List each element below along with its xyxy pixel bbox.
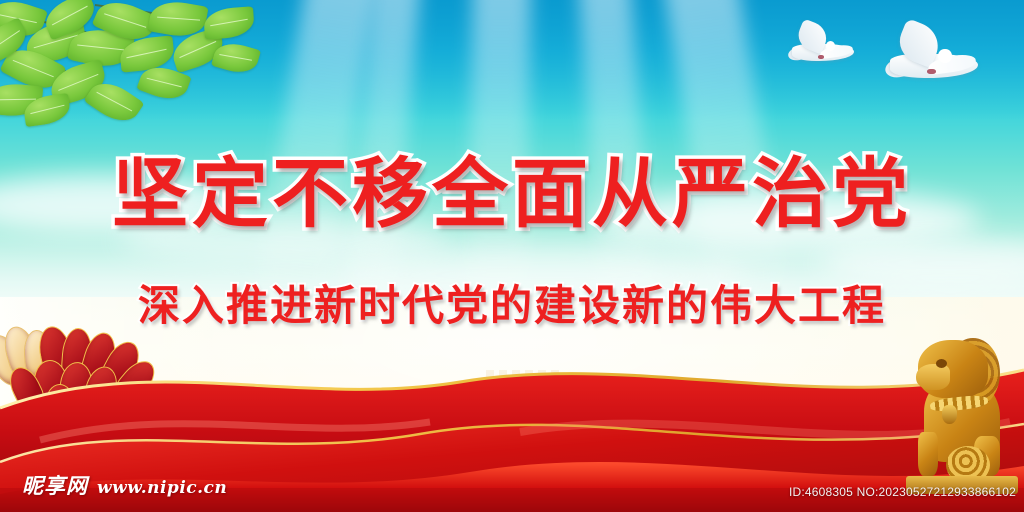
lion-front-leg bbox=[918, 432, 938, 476]
lion-eye bbox=[936, 359, 947, 368]
leaf bbox=[203, 6, 255, 39]
watermark-url: www.nipic.cn bbox=[97, 478, 227, 498]
image-id-text: ID:4608305 NO:20230527212933866102 bbox=[789, 485, 1016, 499]
leaves-decoration bbox=[0, 0, 270, 150]
lion-muzzle bbox=[916, 364, 950, 390]
watermark: 昵享网 www.nipic.cn bbox=[22, 470, 227, 500]
watermark-logo: 昵享网 bbox=[22, 470, 88, 500]
page-title: 坚定不移全面从严治党 bbox=[0, 132, 1024, 242]
guardian-lion-statue bbox=[902, 324, 1022, 494]
dove-small bbox=[792, 26, 854, 70]
dove-large bbox=[890, 28, 978, 90]
poster-canvas: 坚定不移全面从严治党 深入推进新时代党的建设新的伟大工程 bbox=[0, 0, 1024, 512]
lion-bell bbox=[942, 405, 957, 424]
